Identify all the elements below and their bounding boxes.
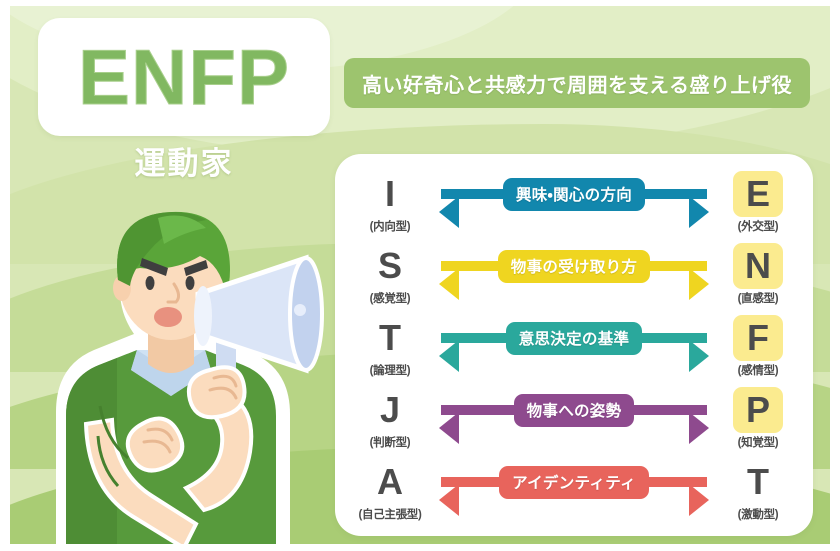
left-letter-box: A (365, 459, 415, 505)
axis-label: 意思決定の基準 (506, 322, 643, 355)
right-letter: P (746, 392, 770, 428)
left-letter-box: J (365, 387, 415, 433)
tagline-banner: 高い好奇心と共感力で周囲を支える盛り上げ役 (344, 58, 810, 108)
dichotomy-panel: I (内向型) 興味・関心の方向 E (335, 154, 813, 536)
right-pole: P (知覚型) (721, 387, 795, 450)
left-letter-label: (自己主張型) (358, 506, 421, 522)
left-letter: I (385, 176, 395, 212)
left-letter-label: (感覚型) (370, 290, 411, 306)
axis-label: 興味・関心の方向 (503, 178, 645, 211)
right-letter-label: (知覚型) (738, 434, 779, 450)
right-pole: N (直感型) (721, 243, 795, 306)
infographic-root: ENFP 運動家 高い好奇心と共感力で周囲を支える盛り上げ役 (0, 0, 840, 551)
type-code-text: ENFP (78, 38, 290, 116)
left-letter-box: S (365, 243, 415, 289)
left-letter-label: (判断型) (370, 434, 411, 450)
right-letter: F (747, 320, 769, 356)
right-letter-box: N (733, 243, 783, 289)
right-letter-label: (感情型) (738, 362, 779, 378)
artwork-area: ENFP 運動家 高い好奇心と共感力で周囲を支える盛り上げ役 (10, 6, 830, 544)
right-letter-box: T (733, 459, 783, 505)
axis-arrow: 物事の受け取り方 (427, 243, 721, 289)
arrow-head-left-icon (439, 340, 459, 372)
left-pole: I (内向型) (353, 171, 427, 234)
arrow-head-right-icon (689, 340, 709, 372)
dichotomy-row: I (内向型) 興味・関心の方向 E (335, 171, 813, 233)
left-letter: S (378, 248, 402, 284)
arrow-head-left-icon (439, 268, 459, 300)
axis-arrow: アイデンティティ (427, 459, 721, 505)
left-letter: T (379, 320, 401, 356)
right-letter-label: (直感型) (738, 290, 779, 306)
axis-label: 物事の受け取り方 (498, 250, 650, 283)
right-letter: E (746, 176, 770, 212)
dichotomy-row: J (判断型) 物事への姿勢 P (335, 387, 813, 449)
dichotomy-rows: I (内向型) 興味・関心の方向 E (335, 166, 813, 526)
character-illustration (38, 184, 338, 544)
left-pole: S (感覚型) (353, 243, 427, 306)
axis-arrow: 意思決定の基準 (427, 315, 721, 361)
right-pole: E (外交型) (721, 171, 795, 234)
right-letter-box: E (733, 171, 783, 217)
dichotomy-row: T (論理型) 意思決定の基準 F (335, 315, 813, 377)
left-letter-label: (論理型) (370, 362, 411, 378)
arrow-head-left-icon (439, 484, 459, 516)
dichotomy-row: S (感覚型) 物事の受け取り方 N (335, 243, 813, 305)
left-letter-box: I (365, 171, 415, 217)
left-letter-box: T (365, 315, 415, 361)
left-letter-label: (内向型) (370, 218, 411, 234)
left-letter: A (377, 464, 403, 500)
right-letter-box: P (733, 387, 783, 433)
type-code-card: ENFP (38, 18, 330, 136)
right-pole: F (感情型) (721, 315, 795, 378)
tagline-text: 高い好奇心と共感力で周囲を支える盛り上げ役 (362, 69, 792, 98)
arrow-head-right-icon (689, 484, 709, 516)
left-letter: J (380, 392, 400, 428)
arrow-head-right-icon (689, 268, 709, 300)
axis-arrow: 物事への姿勢 (427, 387, 721, 433)
dichotomy-row: A (自己主張型) アイデンティティ T (335, 459, 813, 521)
right-pole: T (激動型) (721, 459, 795, 522)
axis-label: 物事への姿勢 (514, 394, 635, 427)
right-letter: T (747, 464, 769, 500)
axis-arrow: 興味・関心の方向 (427, 171, 721, 217)
character-body-group (56, 212, 322, 544)
axis-label: アイデンティティ (499, 466, 649, 499)
right-letter: N (745, 248, 771, 284)
type-name-label: 運動家 (38, 138, 330, 183)
arrow-head-left-icon (439, 196, 459, 228)
left-pole: A (自己主張型) (353, 459, 427, 522)
left-pole: J (判断型) (353, 387, 427, 450)
arrow-head-right-icon (689, 412, 709, 444)
arrow-head-left-icon (439, 412, 459, 444)
arrow-head-right-icon (689, 196, 709, 228)
right-letter-box: F (733, 315, 783, 361)
right-letter-label: (激動型) (738, 506, 779, 522)
right-letter-label: (外交型) (738, 218, 779, 234)
left-pole: T (論理型) (353, 315, 427, 378)
